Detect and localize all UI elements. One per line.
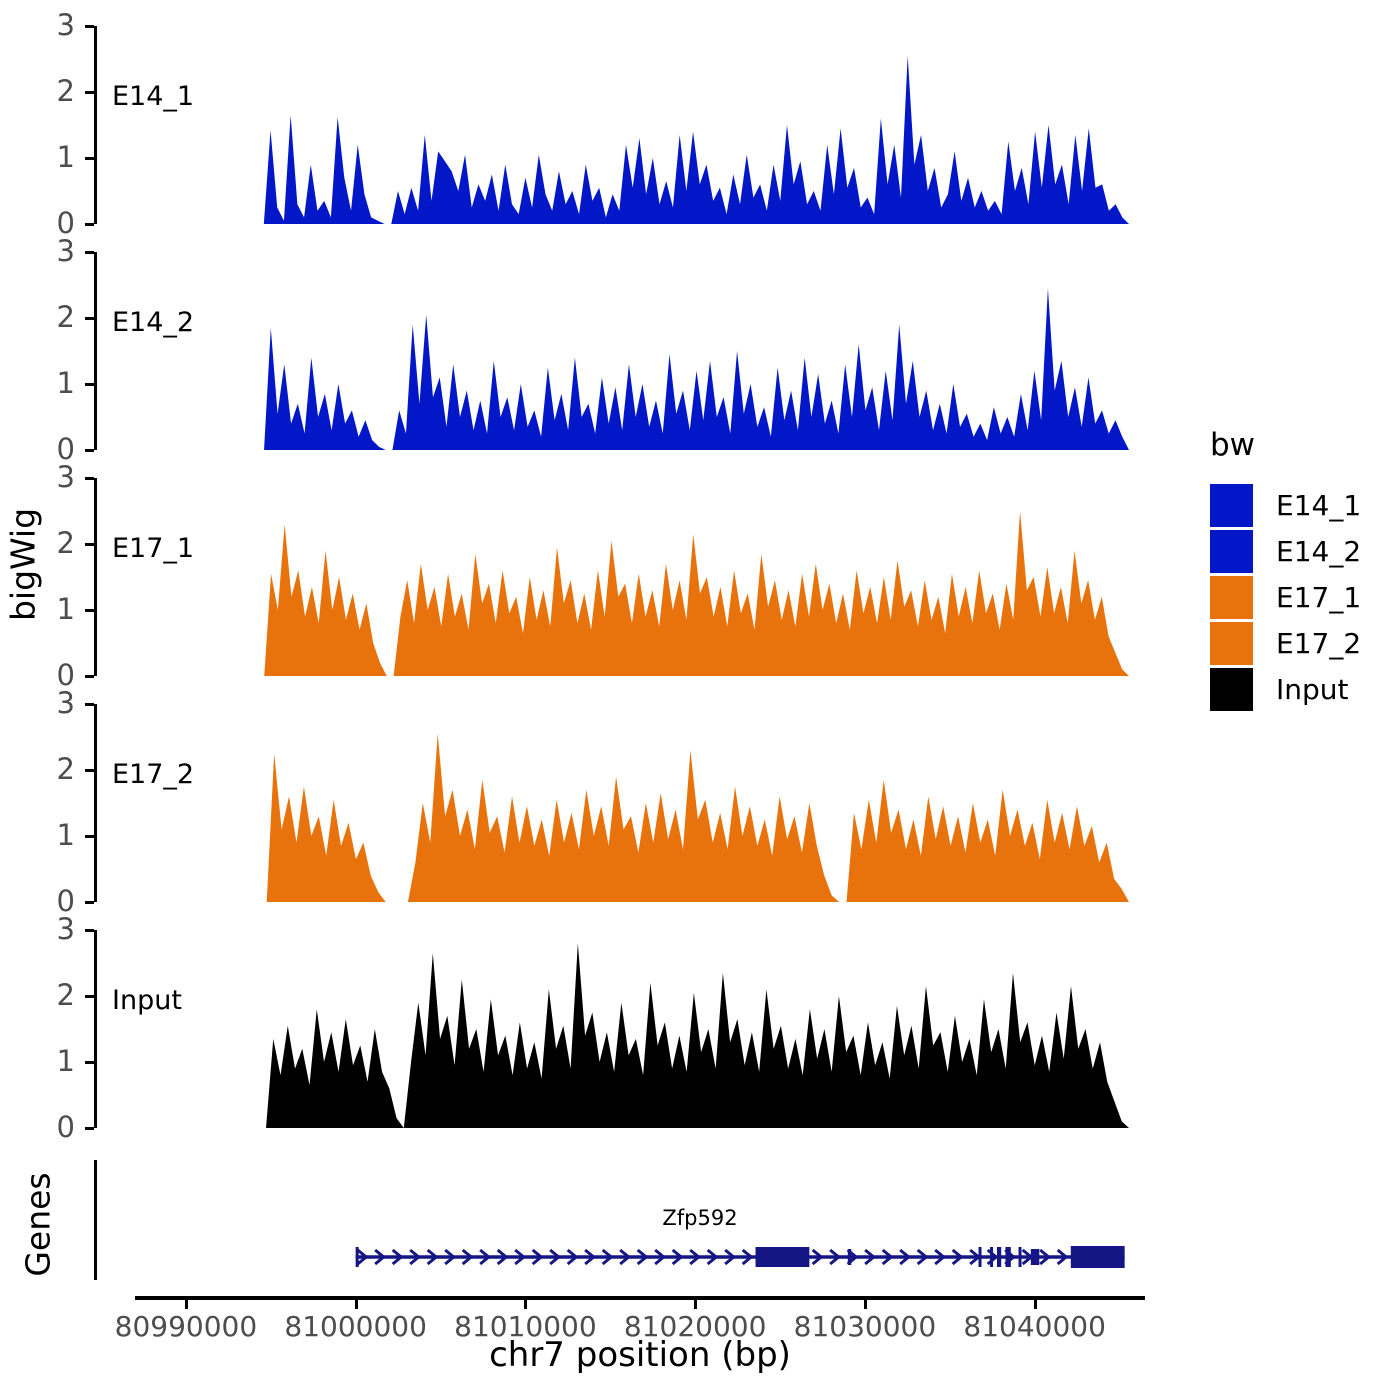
y-tick-mark: [85, 25, 94, 28]
legend-item-label: Input: [1276, 676, 1349, 704]
legend-item-e17_1[interactable]: E17_1: [1210, 576, 1361, 619]
y-tick-mark: [85, 449, 94, 452]
y-tick-label: 3: [0, 915, 75, 944]
gene-exon: [1031, 1249, 1039, 1265]
gene-exon: [997, 1247, 1001, 1267]
y-tick-label: 2: [0, 529, 75, 558]
legend-item-label: E17_2: [1276, 630, 1361, 658]
y-tick-mark: [85, 543, 94, 546]
legend-item-label: E14_1: [1276, 492, 1361, 520]
track-area-svg: [100, 252, 1160, 450]
y-tick-label: 3: [0, 463, 75, 492]
track-area-svg: [100, 26, 1160, 224]
legend-item-e14_2[interactable]: E14_2: [1210, 530, 1361, 573]
y-tick-label: 1: [0, 1047, 75, 1076]
y-tick-label: 3: [0, 11, 75, 40]
x-tick-mark: [694, 1299, 697, 1309]
gene-exon: [356, 1247, 359, 1267]
y-axis-line-input: [94, 930, 97, 1128]
gene-exon: [1071, 1246, 1125, 1268]
y-tick-mark: [85, 223, 94, 226]
y-tick-mark: [85, 901, 94, 904]
legend-title: bw: [1210, 430, 1255, 461]
y-tick-label: 3: [0, 237, 75, 266]
x-tick-mark: [355, 1299, 358, 1309]
y-tick-label: 1: [0, 595, 75, 624]
y-tick-label: 3: [0, 689, 75, 718]
y-tick-label: 1: [0, 821, 75, 850]
y-tick-mark: [85, 609, 94, 612]
legend-item-e17_2[interactable]: E17_2: [1210, 622, 1361, 665]
legend-item-label: E17_1: [1276, 584, 1361, 612]
y-tick-mark: [85, 383, 94, 386]
x-axis-title: chr7 position (bp): [340, 1338, 940, 1372]
legend: bw E14_1E14_2E17_1E17_2Input: [1210, 430, 1400, 700]
y-tick-mark: [85, 1127, 94, 1130]
y-tick-mark: [85, 703, 94, 706]
y-tick-label: 2: [0, 755, 75, 784]
y-axis-line-e17_1: [94, 478, 97, 676]
y-tick-mark: [85, 317, 94, 320]
x-tick-mark: [864, 1299, 867, 1309]
track-plot-e14_2: [100, 252, 1160, 450]
gene-label-zfp592: Zfp592: [600, 1208, 800, 1229]
y-tick-mark: [85, 477, 94, 480]
y-axis-line-e17_2: [94, 704, 97, 902]
x-axis-line: [135, 1296, 1145, 1300]
y-tick-mark: [85, 929, 94, 932]
y-tick-label: 2: [0, 77, 75, 106]
x-tick-mark: [1034, 1299, 1037, 1309]
gene-model-area: [100, 1235, 1160, 1280]
y-tick-mark: [85, 157, 94, 160]
y-tick-mark: [85, 91, 94, 94]
figure-root: bigWig Genes 0123E14_10123E14_20123E17_1…: [0, 0, 1400, 1400]
track-area-svg: [100, 930, 1160, 1128]
y-tick-mark: [85, 995, 94, 998]
y-axis-title-genes: Genes: [19, 1165, 58, 1285]
track-area-svg: [100, 704, 1160, 902]
gene-exon: [848, 1249, 851, 1265]
track-area-svg: [100, 478, 1160, 676]
x-tick-mark: [524, 1299, 527, 1309]
track-plot-e14_1: [100, 26, 1160, 224]
y-tick-label: 0: [0, 1113, 75, 1142]
gene-exon: [990, 1247, 993, 1267]
gene-exon: [979, 1247, 982, 1267]
y-tick-mark: [85, 835, 94, 838]
legend-color-swatch: [1210, 668, 1253, 711]
gene-model-svg: [100, 1235, 1160, 1280]
y-tick-label: 1: [0, 369, 75, 398]
y-axis-line-e14_1: [94, 26, 97, 224]
x-tick-label: 81040000: [935, 1313, 1135, 1341]
gene-exon: [1019, 1247, 1022, 1267]
legend-item-input[interactable]: Input: [1210, 668, 1349, 711]
y-tick-label: 2: [0, 303, 75, 332]
y-tick-mark: [85, 675, 94, 678]
track-plot-e17_1: [100, 478, 1160, 676]
genes-axis-line: [94, 1160, 97, 1280]
legend-color-swatch: [1210, 576, 1253, 619]
track-plot-e17_2: [100, 704, 1160, 902]
y-tick-label: 1: [0, 143, 75, 172]
gene-exon: [1005, 1247, 1010, 1267]
y-tick-mark: [85, 251, 94, 254]
gene-exon: [756, 1247, 810, 1267]
legend-color-swatch: [1210, 484, 1253, 527]
y-tick-label: 2: [0, 981, 75, 1010]
y-tick-mark: [85, 769, 94, 772]
legend-item-label: E14_2: [1276, 538, 1361, 566]
x-tick-mark: [185, 1299, 188, 1309]
legend-color-swatch: [1210, 530, 1253, 573]
track-plot-input: [100, 930, 1160, 1128]
legend-item-e14_1[interactable]: E14_1: [1210, 484, 1361, 527]
y-axis-line-e14_2: [94, 252, 97, 450]
legend-color-swatch: [1210, 622, 1253, 665]
y-tick-mark: [85, 1061, 94, 1064]
